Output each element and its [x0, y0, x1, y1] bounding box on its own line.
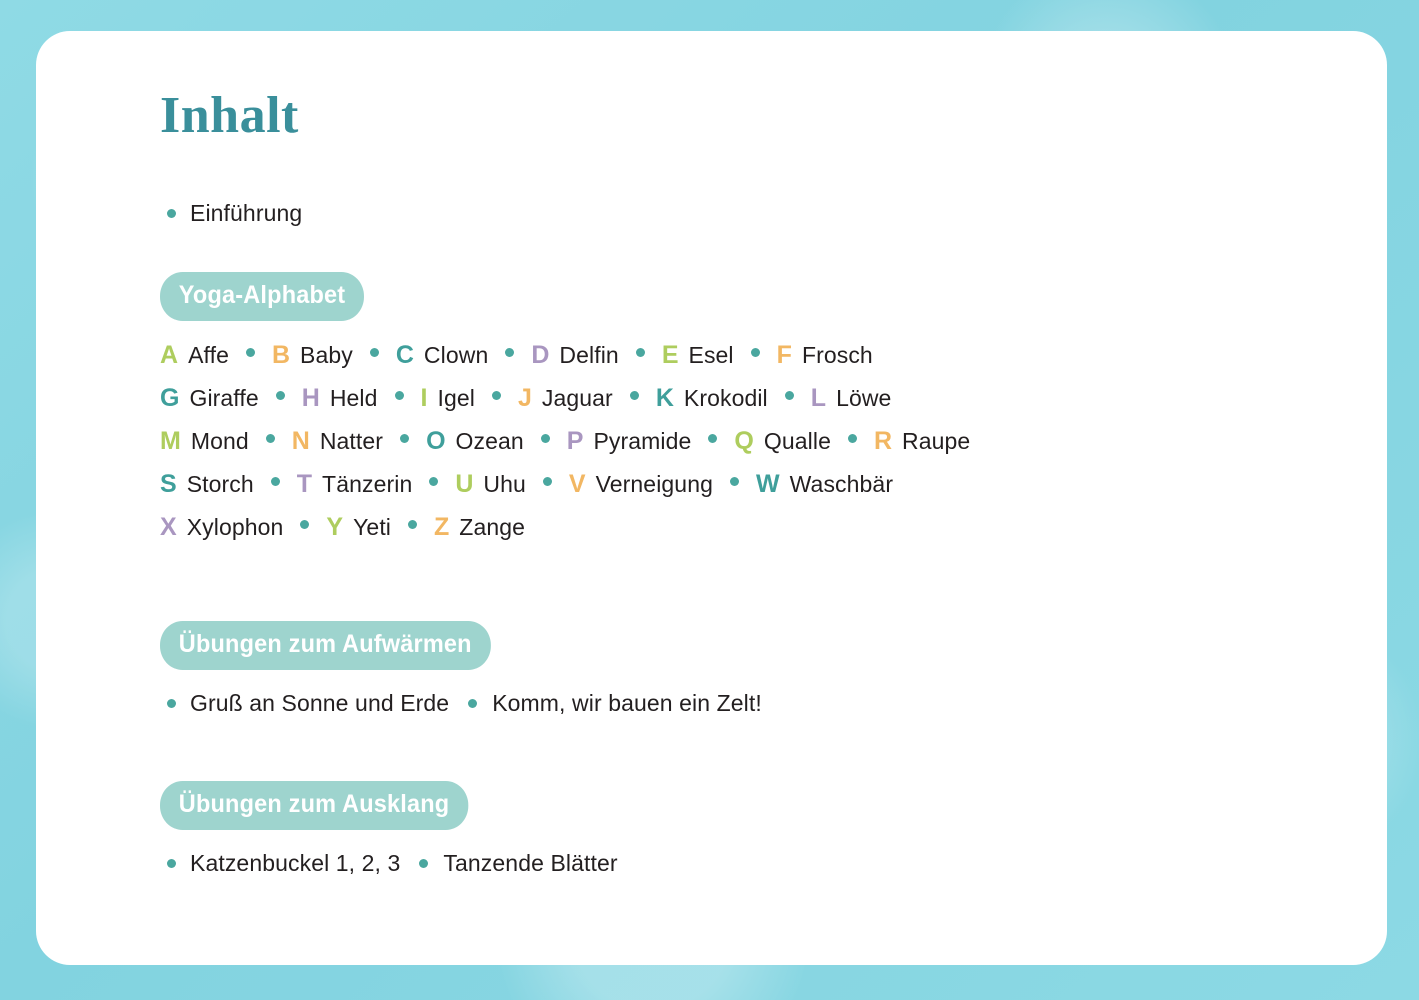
cooldown-item-list: Katzenbuckel 1, 2, 3 Tanzende Blätter — [160, 850, 1347, 877]
alphabet-entry[interactable]: F Frosch — [777, 343, 873, 368]
alphabet-letter: I — [421, 386, 428, 411]
alphabet-word: Held — [330, 387, 378, 410]
alphabet-letter: F — [777, 343, 792, 368]
bullet-dot-icon — [468, 699, 477, 708]
alphabet-word: Mond — [191, 430, 249, 453]
alphabet-letter: S — [160, 472, 177, 497]
alphabet-letter: P — [567, 429, 584, 454]
alphabet-entry[interactable]: K Krokodil — [656, 386, 768, 411]
page-background: Inhalt Einführung Yoga-Alphabet A Affe — [0, 0, 1419, 1000]
warmup-item-list: Gruß an Sonne und Erde Komm, wir bauen e… — [160, 690, 1347, 717]
lead-list: Einführung — [160, 200, 1347, 227]
alphabet-word: Baby — [300, 344, 353, 367]
alphabet-row: A Affe B Baby C Clown — [160, 343, 1347, 386]
alphabet-entry[interactable]: Y Yeti — [326, 515, 391, 540]
alphabet-word: Igel — [437, 387, 474, 410]
separator-dot-icon — [492, 391, 501, 400]
list-item-label: Einführung — [190, 200, 302, 227]
alphabet-letter: H — [302, 386, 320, 411]
alphabet-letter: A — [160, 343, 178, 368]
bullet-dot-icon — [419, 859, 428, 868]
separator-dot-icon — [541, 434, 550, 443]
alphabet-word: Zange — [459, 516, 525, 539]
alphabet-word: Delfin — [559, 344, 618, 367]
page-title: Inhalt — [160, 88, 1347, 142]
alphabet-letter: L — [811, 386, 826, 411]
alphabet-entry[interactable]: E Esel — [662, 343, 734, 368]
alphabet-word: Esel — [689, 344, 734, 367]
section-yoga-alphabet: Yoga-Alphabet A Affe B Baby — [160, 272, 1347, 558]
alphabet-word: Clown — [424, 344, 488, 367]
alphabet-entry[interactable]: J Jaguar — [518, 386, 613, 411]
list-item-label[interactable]: Gruß an Sonne und Erde — [190, 690, 449, 717]
alphabet-letter: X — [160, 515, 177, 540]
separator-dot-icon — [246, 348, 255, 357]
alphabet-letter: U — [455, 472, 473, 497]
separator-dot-icon — [271, 477, 280, 486]
alphabet-letter: D — [531, 343, 549, 368]
alphabet-row: G Giraffe H Held I Igel — [160, 386, 1347, 429]
alphabet-letter: V — [569, 472, 586, 497]
alphabet-letter: E — [662, 343, 679, 368]
alphabet-word: Frosch — [802, 344, 873, 367]
alphabet-entry[interactable]: N Natter — [292, 429, 383, 454]
alphabet-entry[interactable]: M Mond — [160, 429, 249, 454]
alphabet-word: Giraffe — [189, 387, 258, 410]
alphabet-letter: R — [874, 429, 892, 454]
alphabet-row: M Mond N Natter O Ozean — [160, 429, 1347, 472]
alphabet-entry[interactable]: U Uhu — [455, 472, 526, 497]
alphabet-word: Löwe — [836, 387, 891, 410]
alphabet-word: Affe — [188, 344, 229, 367]
alphabet-letter: T — [297, 472, 312, 497]
bullet-dot-icon — [167, 209, 176, 218]
separator-dot-icon — [400, 434, 409, 443]
alphabet-word: Tänzerin — [322, 473, 412, 496]
alphabet-word: Krokodil — [684, 387, 768, 410]
separator-dot-icon — [370, 348, 379, 357]
separator-dot-icon — [751, 348, 760, 357]
alphabet-word: Waschbär — [790, 473, 893, 496]
alphabet-entry[interactable]: R Raupe — [874, 429, 970, 454]
alphabet-entry[interactable]: T Tänzerin — [297, 472, 413, 497]
alphabet-entry[interactable]: O Ozean — [426, 429, 524, 454]
separator-dot-icon — [276, 391, 285, 400]
alphabet-word: Yeti — [353, 516, 391, 539]
separator-dot-icon — [636, 348, 645, 357]
separator-dot-icon — [543, 477, 552, 486]
alphabet-entry[interactable]: B Baby — [272, 343, 353, 368]
separator-dot-icon — [730, 477, 739, 486]
alphabet-entry[interactable]: W Waschbär — [756, 472, 893, 497]
alphabet-entry[interactable]: S Storch — [160, 472, 254, 497]
alphabet-letter: C — [396, 343, 414, 368]
separator-dot-icon — [266, 434, 275, 443]
list-item-label[interactable]: Komm, wir bauen ein Zelt! — [492, 690, 762, 717]
list-item-label[interactable]: Tanzende Blätter — [443, 850, 617, 877]
alphabet-word: Pyramide — [593, 430, 691, 453]
alphabet-word: Uhu — [483, 473, 526, 496]
section-badge-cooldown: Übungen zum Ausklang — [160, 781, 468, 830]
alphabet-row: S Storch T Tänzerin U Uhu — [160, 472, 1347, 515]
alphabet-letter: O — [426, 429, 445, 454]
separator-dot-icon — [848, 434, 857, 443]
content-card: Inhalt Einführung Yoga-Alphabet A Affe — [36, 31, 1387, 965]
alphabet-word: Jaguar — [542, 387, 613, 410]
alphabet-entry[interactable]: P Pyramide — [567, 429, 692, 454]
alphabet-letter: B — [272, 343, 290, 368]
separator-dot-icon — [429, 477, 438, 486]
alphabet-entry[interactable]: C Clown — [396, 343, 488, 368]
section-cooldown: Übungen zum Ausklang Katzenbuckel 1, 2, … — [160, 781, 1347, 877]
separator-dot-icon — [300, 520, 309, 529]
alphabet-letter: Z — [434, 515, 449, 540]
alphabet-row: X Xylophon Y Yeti Z Zange — [160, 515, 1347, 558]
separator-dot-icon — [785, 391, 794, 400]
alphabet-entry[interactable]: Z Zange — [434, 515, 525, 540]
alphabet-entry[interactable]: V Verneigung — [569, 472, 713, 497]
alphabet-grid: A Affe B Baby C Clown — [160, 343, 1347, 558]
alphabet-letter: M — [160, 429, 181, 454]
list-item-label[interactable]: Katzenbuckel 1, 2, 3 — [190, 850, 400, 877]
alphabet-word: Ozean — [456, 430, 524, 453]
alphabet-entry[interactable]: H Held — [302, 386, 378, 411]
alphabet-letter: Y — [326, 515, 343, 540]
alphabet-letter: K — [656, 386, 674, 411]
alphabet-entry[interactable]: I Igel — [421, 386, 475, 411]
alphabet-entry[interactable]: A Affe — [160, 343, 229, 368]
section-badge-warmup: Übungen zum Aufwärmen — [160, 621, 491, 670]
separator-dot-icon — [505, 348, 514, 357]
alphabet-entry[interactable]: L Löwe — [811, 386, 892, 411]
alphabet-letter: J — [518, 386, 532, 411]
bullet-dot-icon — [167, 699, 176, 708]
alphabet-word: Qualle — [764, 430, 831, 453]
alphabet-word: Xylophon — [187, 516, 284, 539]
separator-dot-icon — [395, 391, 404, 400]
alphabet-entry[interactable]: G Giraffe — [160, 386, 259, 411]
bullet-dot-icon — [167, 859, 176, 868]
separator-dot-icon — [708, 434, 717, 443]
alphabet-entry[interactable]: D Delfin — [531, 343, 618, 368]
section-badge-yoga-alphabet: Yoga-Alphabet — [160, 272, 364, 321]
alphabet-word: Storch — [187, 473, 254, 496]
card-content: Inhalt Einführung Yoga-Alphabet A Affe — [160, 88, 1347, 877]
separator-dot-icon — [408, 520, 417, 529]
list-item[interactable]: Einführung — [160, 200, 1347, 227]
alphabet-entry[interactable]: X Xylophon — [160, 515, 283, 540]
separator-dot-icon — [630, 391, 639, 400]
alphabet-letter: Q — [734, 429, 753, 454]
section-warmup: Übungen zum Aufwärmen Gruß an Sonne und … — [160, 621, 1347, 717]
alphabet-letter: G — [160, 386, 179, 411]
alphabet-word: Verneigung — [596, 473, 713, 496]
alphabet-letter: N — [292, 429, 310, 454]
alphabet-entry[interactable]: Q Qualle — [734, 429, 831, 454]
alphabet-letter: W — [756, 472, 780, 497]
alphabet-word: Raupe — [902, 430, 970, 453]
alphabet-word: Natter — [320, 430, 383, 453]
